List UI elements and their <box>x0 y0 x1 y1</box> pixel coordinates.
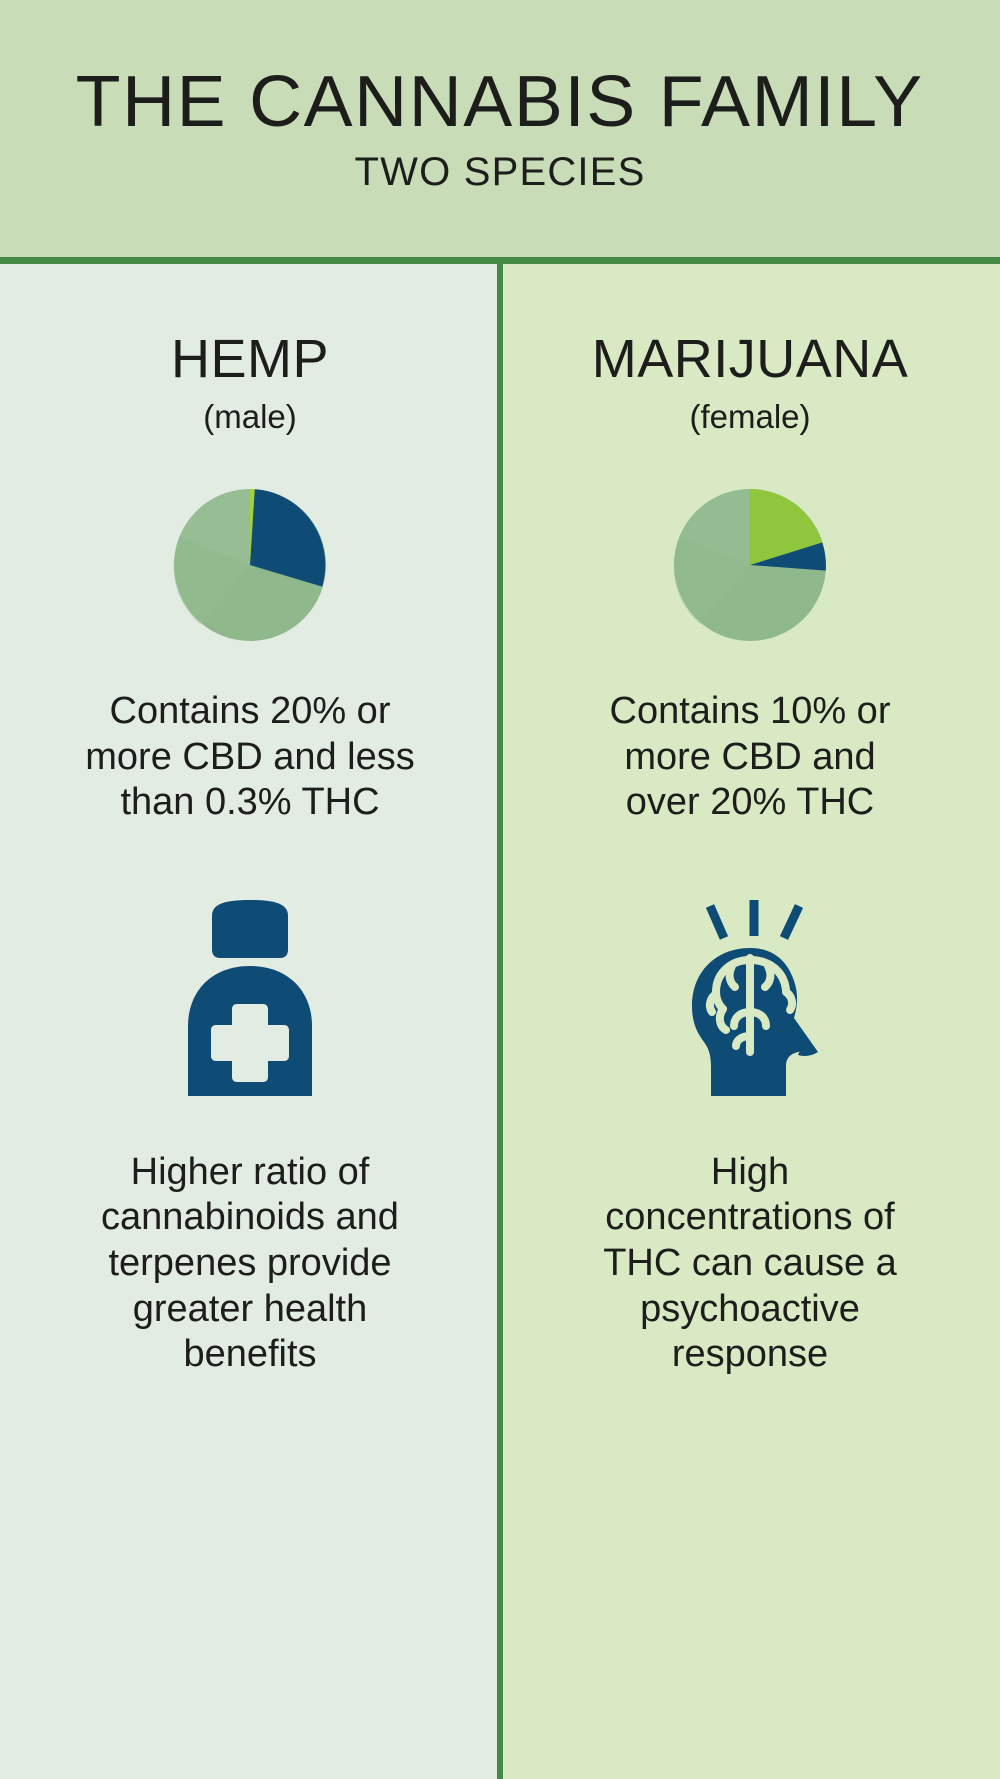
fact-marijuana-effects: High concentrations of THC can cause a p… <box>585 1150 915 1378</box>
pie-chart-marijuana <box>670 485 830 645</box>
pie-chart-icon <box>170 485 330 645</box>
column-sex-marijuana: (female) <box>689 400 810 433</box>
column-title-marijuana: MARIJUANA <box>592 332 909 386</box>
fact-hemp-composition: Contains 20% or more CBD and less than 0… <box>85 689 415 826</box>
column-marijuana: MARIJUANA (female) Contains 10% or more … <box>500 264 1000 1779</box>
brain-head-icon <box>666 900 834 1096</box>
icon-hemp <box>175 896 325 1096</box>
pie-chart-hemp <box>170 485 330 645</box>
column-sex-hemp: (male) <box>203 400 297 433</box>
header-banner: THE CANNABIS FAMILY TWO SPECIES <box>0 0 1000 264</box>
fact-hemp-benefits: Higher ratio of cannabinoids and terpene… <box>85 1150 415 1378</box>
fact-marijuana-composition: Contains 10% or more CBD and over 20% TH… <box>585 689 915 826</box>
page-subtitle: TWO SPECIES <box>354 152 645 192</box>
pie-chart-icon <box>670 485 830 645</box>
column-hemp: HEMP (male) Contains 20% <box>0 264 500 1779</box>
icon-marijuana <box>666 896 834 1096</box>
column-divider <box>497 264 503 1779</box>
column-title-hemp: HEMP <box>171 332 329 386</box>
page-title: THE CANNABIS FAMILY <box>76 66 924 138</box>
medicine-bottle-icon <box>175 900 325 1096</box>
infographic-root: THE CANNABIS FAMILY TWO SPECIES HEM <box>0 0 1000 1779</box>
